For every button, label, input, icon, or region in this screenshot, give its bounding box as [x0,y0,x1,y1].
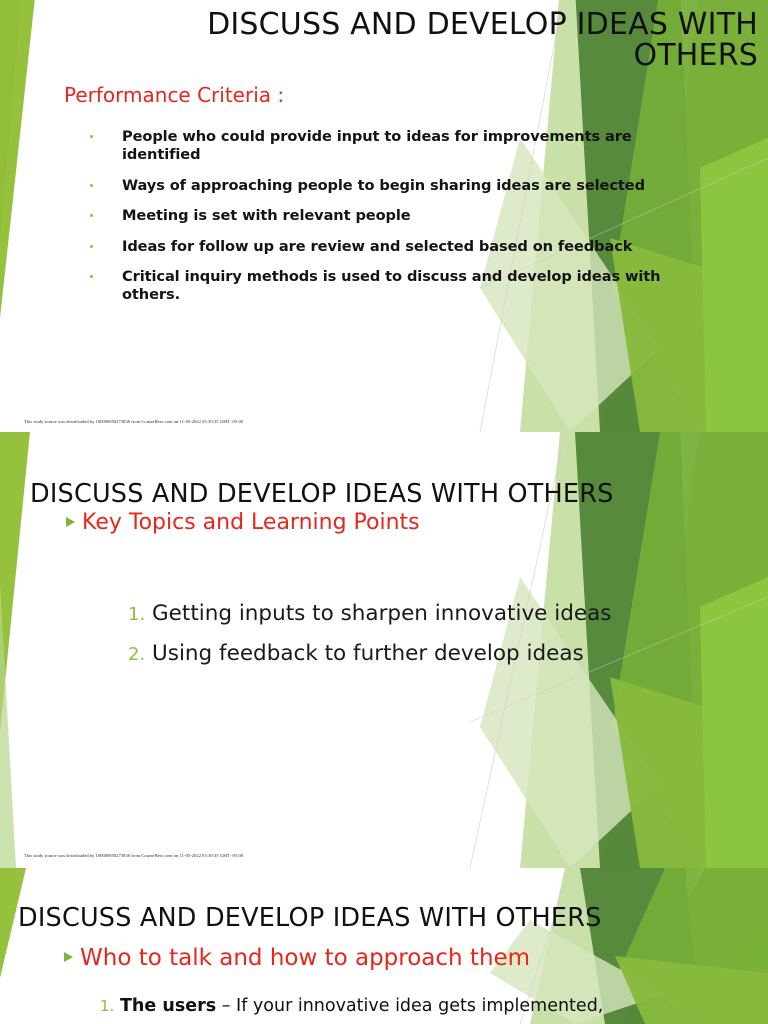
list-item: Meeting is set with relevant people [86,207,694,225]
page-title: DISCUSS AND DEVELOP IDEAS WITH OTHERS [30,481,614,507]
slide-2-subheading-text: Key Topics and Learning Points [82,510,420,535]
bullet-dot-icon [90,184,93,187]
download-watermark-note: This study source was downloaded by 1000… [24,419,243,424]
list-item-bold-term: The users [120,996,216,1016]
slide-2-numbered-list: 1.Getting inputs to sharpen innovative i… [128,594,611,674]
list-item-text: Ideas for follow up are review and selec… [122,238,632,255]
list-item: People who could provide input to ideas … [86,128,694,165]
triangle-bullet-icon [66,517,75,527]
bullet-dot-icon [90,245,93,248]
slide-2-subheading: Key Topics and Learning Points [66,510,420,535]
list-item: 1.Getting inputs to sharpen innovative i… [128,594,611,634]
list-item-text: Getting inputs to sharpen innovative ide… [152,601,611,626]
list-item-text: Critical inquiry methods is used to disc… [122,268,660,303]
list-item-text: People who could provide input to ideas … [122,128,632,163]
list-item: Critical inquiry methods is used to disc… [86,268,694,305]
page-title: DISCUSS AND DEVELOP IDEAS WITH OTHERS [80,10,758,72]
slide-1-bullet-list: People who could provide input to ideas … [86,128,694,317]
bullet-dot-icon [90,275,93,278]
document-page: DISCUSS AND DEVELOP IDEAS WITH OTHERS Pe… [0,0,768,1024]
list-item: Ideas for follow up are review and selec… [86,238,694,256]
slide-1-subheading: Performance Criteria : [64,83,284,107]
left-wedge-shape [0,0,36,318]
list-item-text: Using feedback to further develop ideas [152,641,584,666]
list-item-text: Meeting is set with relevant people [122,207,411,224]
list-item: 2.Using feedback to further develop idea… [128,634,611,674]
list-item-number: 1. [100,997,120,1015]
list-item-number: 2. [128,638,152,671]
page-title: DISCUSS AND DEVELOP IDEAS WITH OTHERS [18,905,602,931]
list-item: 1.The users – If your innovative idea ge… [100,996,603,1016]
list-item: Ways of approaching people to begin shar… [86,177,694,195]
slide-3-subheading: Who to talk and how to approach them [64,946,534,971]
bullet-dot-icon [90,214,93,217]
list-item-text: Ways of approaching people to begin shar… [122,177,645,194]
list-item-number: 1. [128,598,152,631]
list-item-text: – If your innovative idea gets implement… [216,996,603,1016]
triangle-bullet-icon [64,952,73,962]
slide-3-subheading-text: Who to talk and how to approach them [80,945,530,971]
slide-3-numbered-list: 1.The users – If your innovative idea ge… [100,996,603,1016]
download-watermark-note: This study source was downloaded by 1000… [24,853,243,858]
bullet-dot-icon [90,135,93,138]
